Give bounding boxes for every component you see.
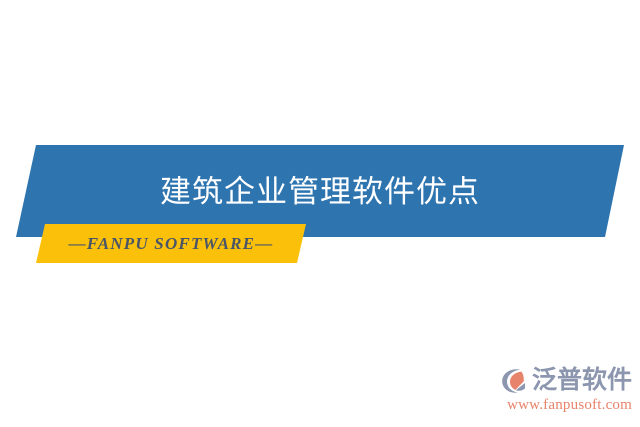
fanpu-logo-icon <box>498 365 528 395</box>
brand-url: www.fanpusoft.com <box>507 398 632 413</box>
slide-canvas: 建筑企业管理软件优点 —FANPU SOFTWARE— 泛普软件 www.fan… <box>0 0 640 427</box>
brand-logo-row: 泛普软件 <box>498 365 632 395</box>
page-title: 建筑企业管理软件优点 <box>0 160 640 216</box>
page-subtitle: —FANPU SOFTWARE— <box>36 224 306 263</box>
brand-logo: 泛普软件 www.fanpusoft.com <box>498 365 632 413</box>
brand-name: 泛普软件 <box>532 368 632 393</box>
